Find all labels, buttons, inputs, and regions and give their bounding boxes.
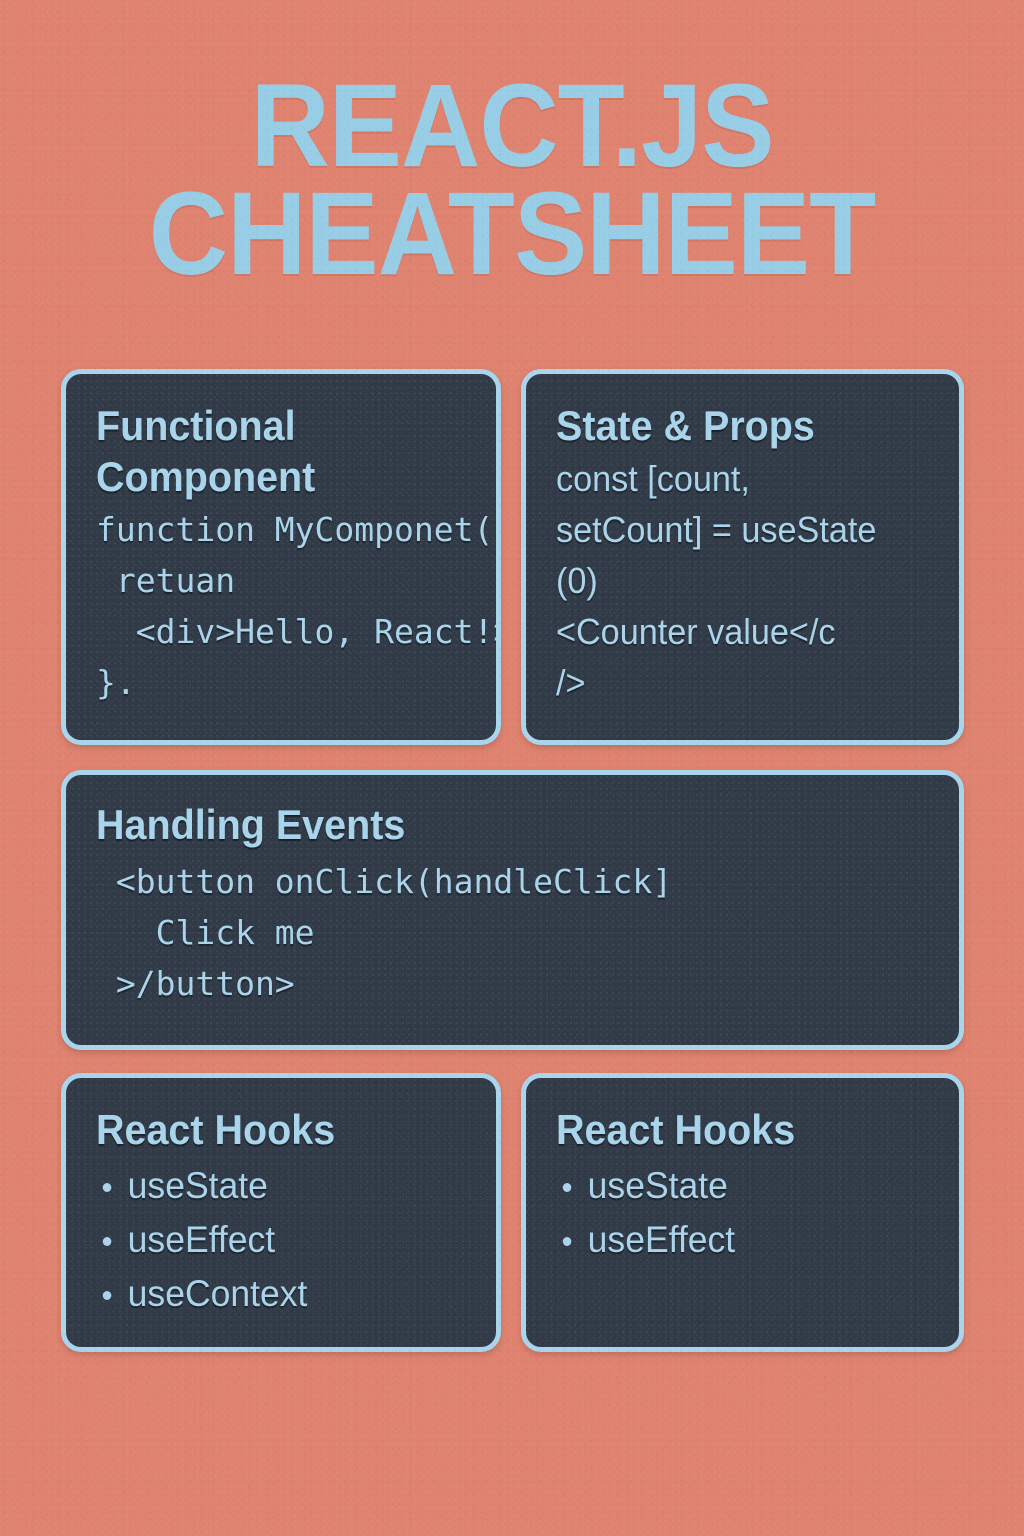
card-heading: Functional Component xyxy=(96,400,446,502)
card-handling-events: Handling Events <button onClick(handleCl… xyxy=(61,770,964,1050)
code-line: retuan xyxy=(96,555,468,606)
code-line: Click me xyxy=(96,907,931,958)
card-heading: State & Props xyxy=(556,400,909,451)
code-line: /> xyxy=(556,657,912,708)
card-content: Functional Component function MyComponet… xyxy=(66,374,496,728)
code-line: >/button> xyxy=(96,958,931,1009)
list-item: useState xyxy=(96,1159,453,1213)
list-item: useEffect xyxy=(556,1213,916,1267)
card-heading: React Hooks xyxy=(556,1104,909,1155)
page-title: REACT.JS CHEATSHEET xyxy=(0,72,1024,288)
code-block: <button onClick(handleClick] Click me >/… xyxy=(96,856,931,1009)
code-line: function MyComponet() xyxy=(96,504,468,555)
title-line-2: CHEATSHEET xyxy=(36,180,988,288)
title-line-1: REACT.JS xyxy=(36,72,988,180)
card-state-and-props: State & Props const [count, setCount] = … xyxy=(521,369,964,745)
card-heading: Handling Events xyxy=(96,799,881,850)
card-content: React Hooks useState useEffect xyxy=(526,1078,959,1287)
list-item: useState xyxy=(556,1159,916,1213)
card-content: State & Props const [count, setCount] = … xyxy=(526,374,959,728)
card-react-hooks-right: React Hooks useState useEffect xyxy=(521,1073,964,1352)
list-item: useEffect xyxy=(96,1213,453,1267)
code-line: }. xyxy=(96,657,468,708)
card-react-hooks-left: React Hooks useState useEffect useContex… xyxy=(61,1073,501,1352)
code-line: setCount] = useState xyxy=(556,504,912,555)
code-block: function MyComponet() retuan <div>Hello,… xyxy=(96,504,468,708)
list-item: useContext xyxy=(96,1267,453,1321)
card-heading: React Hooks xyxy=(96,1104,446,1155)
code-block: const [count, setCount] = useState (0) <… xyxy=(556,453,931,708)
hooks-list: useState useEffect useContext xyxy=(96,1159,468,1321)
card-content: React Hooks useState useEffect useContex… xyxy=(66,1078,496,1341)
hooks-list: useState useEffect xyxy=(556,1159,931,1267)
code-line: (0) xyxy=(556,555,912,606)
card-content: Handling Events <button onClick(handleCl… xyxy=(66,775,959,1029)
code-line: <button onClick(handleClick] xyxy=(96,856,931,907)
card-functional-component: Functional Component function MyComponet… xyxy=(61,369,501,745)
code-line: <div>Hello, React!> xyxy=(96,606,468,657)
code-line: const [count, xyxy=(556,453,912,504)
cheatsheet-poster: REACT.JS CHEATSHEET Functional Component… xyxy=(0,0,1024,1536)
code-line: <Counter value</c xyxy=(556,606,912,657)
